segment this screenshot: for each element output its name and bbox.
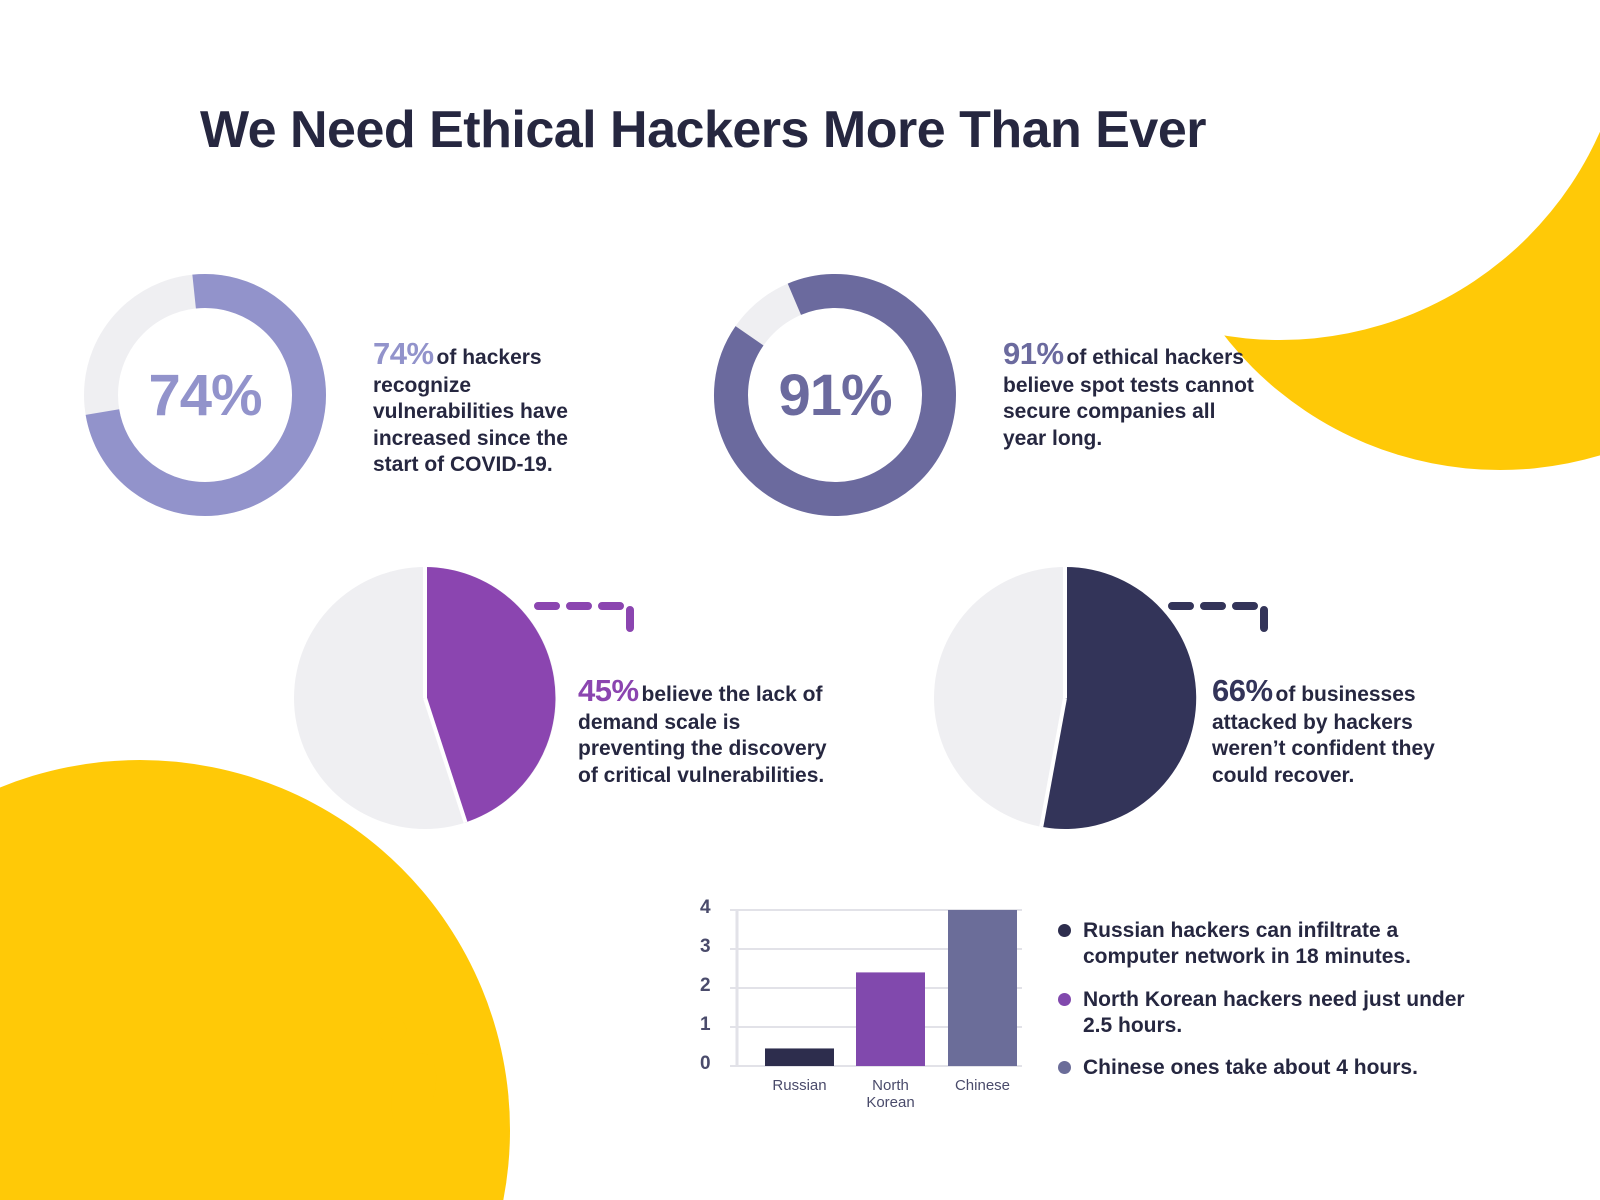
- stat-highlight-74: 74%: [373, 336, 434, 371]
- x-tick-russian: Russian: [765, 1077, 834, 1094]
- legend-label-chinese: Chinese ones take about 4 hours.: [1083, 1055, 1418, 1081]
- bar-chart-hacker-speed: 4 3 2 1 0 Russian North Korean Chinese: [690, 895, 1030, 1095]
- dashed-connector-66-icon: [1168, 600, 1278, 650]
- stat-highlight-66: 66%: [1212, 673, 1273, 708]
- stat-text-66: 66%of businesses attacked by hackers wer…: [1212, 672, 1472, 789]
- bar-chart-legend: Russian hackers can infiltrate a compute…: [1058, 918, 1478, 1097]
- stat-text-91: 91%of ethical hackers believe spot tests…: [1003, 335, 1263, 452]
- donut-chart-91: 91%: [705, 265, 965, 525]
- donut-value-74: 74%: [75, 265, 335, 525]
- stat-text-74: 74%of hackers recognize vulnerabilities …: [373, 335, 588, 478]
- pie-chart-45: [292, 565, 558, 831]
- legend-bullet-russian-icon: [1058, 924, 1071, 937]
- page-title: We Need Ethical Hackers More Than Ever: [200, 100, 1206, 160]
- stat-highlight-45: 45%: [578, 673, 639, 708]
- stat-text-45: 45%believe the lack of demand scale is p…: [578, 672, 838, 789]
- legend-bullet-north-korean-icon: [1058, 993, 1071, 1006]
- donut-chart-74: 74%: [75, 265, 335, 525]
- pie-chart-66: [932, 565, 1198, 831]
- x-tick-chinese: Chinese: [948, 1077, 1017, 1094]
- stat-block-91: 91% 91%of ethical hackers believe spot t…: [705, 265, 1263, 525]
- legend-item-north-korean: North Korean hackers need just under 2.5…: [1058, 987, 1478, 1040]
- legend-bullet-chinese-icon: [1058, 1061, 1071, 1074]
- dashed-connector-45-icon: [534, 600, 644, 650]
- donut-value-91: 91%: [705, 265, 965, 525]
- x-tick-north-korean: North Korean: [846, 1077, 935, 1111]
- legend-label-north-korean: North Korean hackers need just under 2.5…: [1083, 987, 1478, 1040]
- legend-item-russian: Russian hackers can infiltrate a compute…: [1058, 918, 1478, 971]
- legend-label-russian: Russian hackers can infiltrate a compute…: [1083, 918, 1478, 971]
- legend-item-chinese: Chinese ones take about 4 hours.: [1058, 1055, 1478, 1081]
- infographic-canvas: We Need Ethical Hackers More Than Ever 7…: [0, 0, 1600, 1200]
- stat-highlight-91: 91%: [1003, 336, 1064, 371]
- stat-block-74: 74% 74%of hackers recognize vulnerabilit…: [75, 265, 588, 525]
